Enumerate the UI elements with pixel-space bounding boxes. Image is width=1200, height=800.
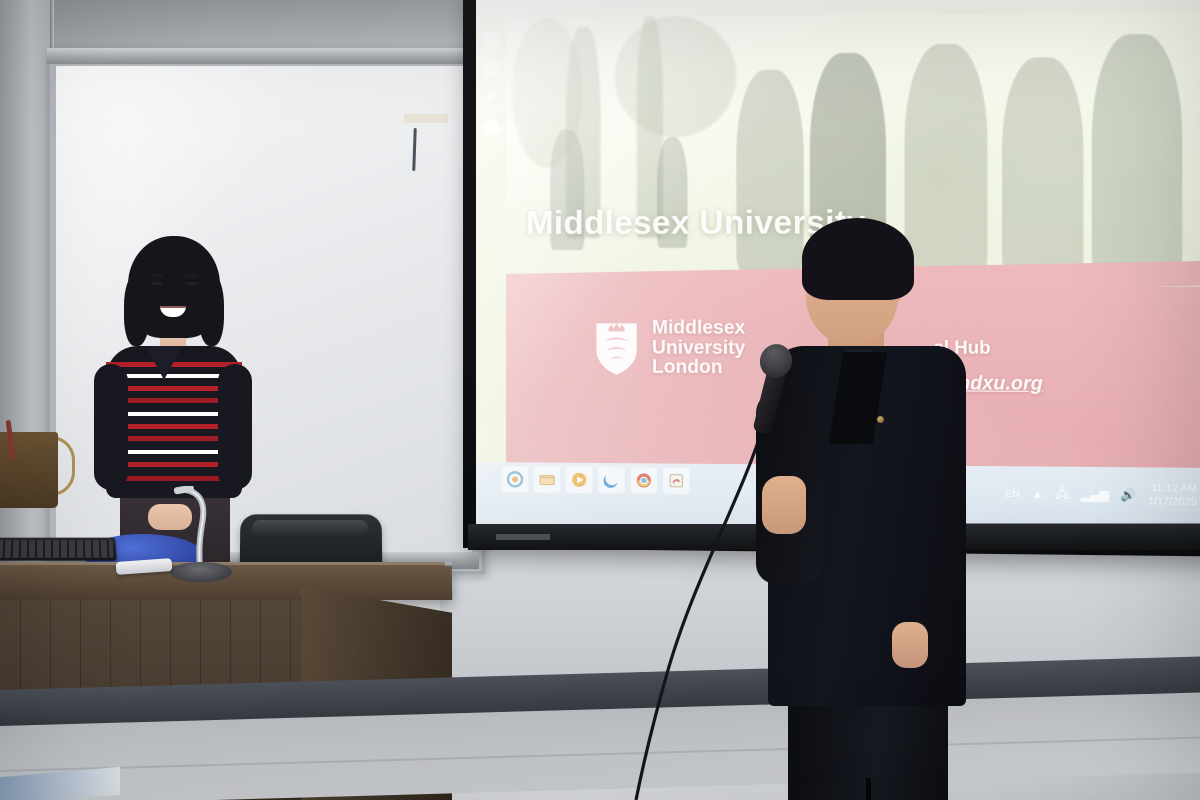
chair-highlight	[252, 520, 368, 536]
gooseneck-microphone[interactable]	[168, 486, 230, 568]
whiteboard-top-rail	[47, 48, 479, 64]
microphone-stand-base	[170, 562, 232, 582]
eye-right	[187, 282, 197, 285]
keyboard-keys[interactable]	[0, 540, 114, 558]
chevron-up-icon[interactable]: ▲	[1031, 487, 1043, 501]
signal-bars-icon[interactable]: ▂▄▆	[1081, 487, 1109, 502]
pen-icon[interactable]	[484, 88, 499, 102]
pdf-reader-icon[interactable]	[663, 468, 689, 494]
arm-left	[94, 364, 128, 490]
bookmark-icon[interactable]	[484, 62, 499, 77]
logo-line-3: London	[652, 358, 745, 378]
speaker-icon[interactable]: 🔊	[1121, 488, 1137, 503]
eraser-icon[interactable]	[482, 118, 500, 136]
logo-line-1: Middlesex	[652, 318, 745, 338]
lapel-pin-icon	[877, 416, 884, 423]
system-tray[interactable]: EN ▲ 🖧 ▂▄▆ 🔊 11:12 AM 1/17/2025	[1005, 481, 1197, 510]
desk-edge-highlight	[0, 562, 452, 565]
note-icon[interactable]	[484, 32, 499, 47]
eye-left	[152, 282, 162, 285]
shield-crest-icon	[594, 320, 638, 376]
taskbar-icon-group[interactable]	[502, 466, 689, 494]
display-brand-mark	[496, 534, 550, 540]
chrome-browser-icon[interactable]	[631, 467, 657, 493]
file-explorer-icon[interactable]	[534, 466, 560, 492]
hand-holding-microphone	[762, 476, 806, 534]
eyebrow-left	[150, 274, 163, 277]
edge-browser-icon[interactable]	[598, 467, 624, 493]
clock-time: 11:12 AM	[1148, 482, 1197, 496]
arm-right	[218, 364, 252, 490]
hand-right	[892, 622, 928, 668]
trouser-seam	[866, 778, 871, 800]
man-speaker	[740, 218, 990, 800]
cortana-search-icon[interactable]	[502, 466, 528, 492]
university-logo-text: Middlesex University London	[652, 318, 745, 378]
taskbar-clock[interactable]: 11:12 AM 1/17/2025	[1148, 482, 1197, 509]
app-sidebar[interactable]	[476, 18, 506, 489]
hair-top	[128, 236, 220, 338]
logo-line-2: University	[652, 338, 745, 358]
hair	[802, 218, 914, 300]
whiteboard-tape	[404, 114, 448, 123]
media-player-icon[interactable]	[566, 467, 592, 493]
presentation-scene: Middlesex University Middle	[0, 0, 1200, 800]
network-icon[interactable]: 🖧	[1055, 484, 1069, 506]
eyebrow-right	[185, 274, 198, 277]
keyboard[interactable]	[0, 538, 117, 561]
v-neckline	[146, 346, 182, 380]
tray-language[interactable]: EN	[1005, 488, 1019, 499]
clock-date: 1/17/2025	[1148, 495, 1197, 509]
university-logo: Middlesex University London	[594, 318, 745, 378]
